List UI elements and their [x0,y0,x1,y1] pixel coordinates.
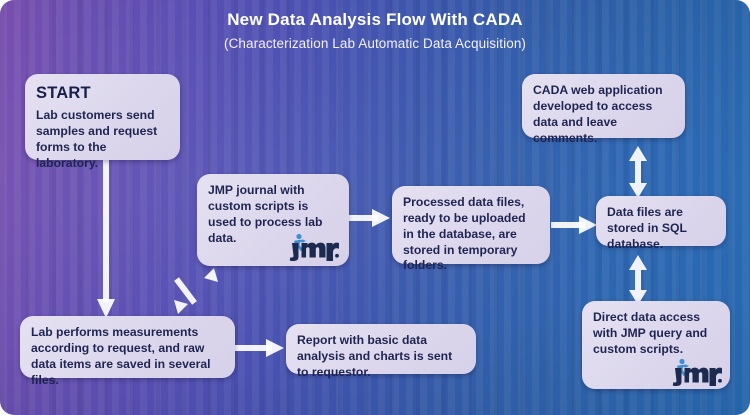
node-start[interactable]: START Lab customers send samples and req… [25,74,180,160]
node-direct-access[interactable]: Direct data access with JMP query and cu… [582,301,730,389]
cada-web-app-text: CADA web application developed to access… [533,83,674,146]
node-sql-database[interactable]: Data files are stored in SQL database. [596,196,726,246]
lab-measurements-text: Lab performs measurements according to r… [31,325,224,388]
jmp-logo-icon [660,357,722,387]
connector-processed-to-sql [551,215,599,235]
processed-files-text: Processed data files, ready to be upload… [403,195,539,274]
connector-start-to-lab [96,158,116,320]
connector-sql-to-direct-access [628,255,648,305]
direct-access-text: Direct data access with JMP query and cu… [593,310,719,358]
node-processed-files[interactable]: Processed data files, ready to be upload… [392,186,550,264]
node-cada-web-app[interactable]: CADA web application developed to access… [522,74,685,138]
node-report[interactable]: Report with basic data analysis and char… [286,324,476,374]
node-lab-measurements[interactable]: Lab performs measurements according to r… [20,316,235,378]
sql-database-text: Data files are stored in SQL database. [607,205,715,253]
connector-lab-to-jmp-journal [172,262,220,320]
node-jmp-journal[interactable]: JMP journal with custom scripts is used … [197,174,349,266]
connector-sql-to-cada [628,146,648,198]
diagram-canvas: New Data Analysis Flow With CADA (Charac… [0,0,750,415]
start-label: START [36,83,169,104]
page-title: New Data Analysis Flow With CADA [0,10,750,30]
report-text: Report with basic data analysis and char… [297,333,465,381]
start-text: Lab customers send samples and request f… [36,108,169,171]
connector-jmp-to-processed [344,208,392,228]
page-subtitle: (Characterization Lab Automatic Data Acq… [0,36,750,51]
jmp-logo-icon [277,232,339,262]
connector-lab-to-report [234,338,286,358]
